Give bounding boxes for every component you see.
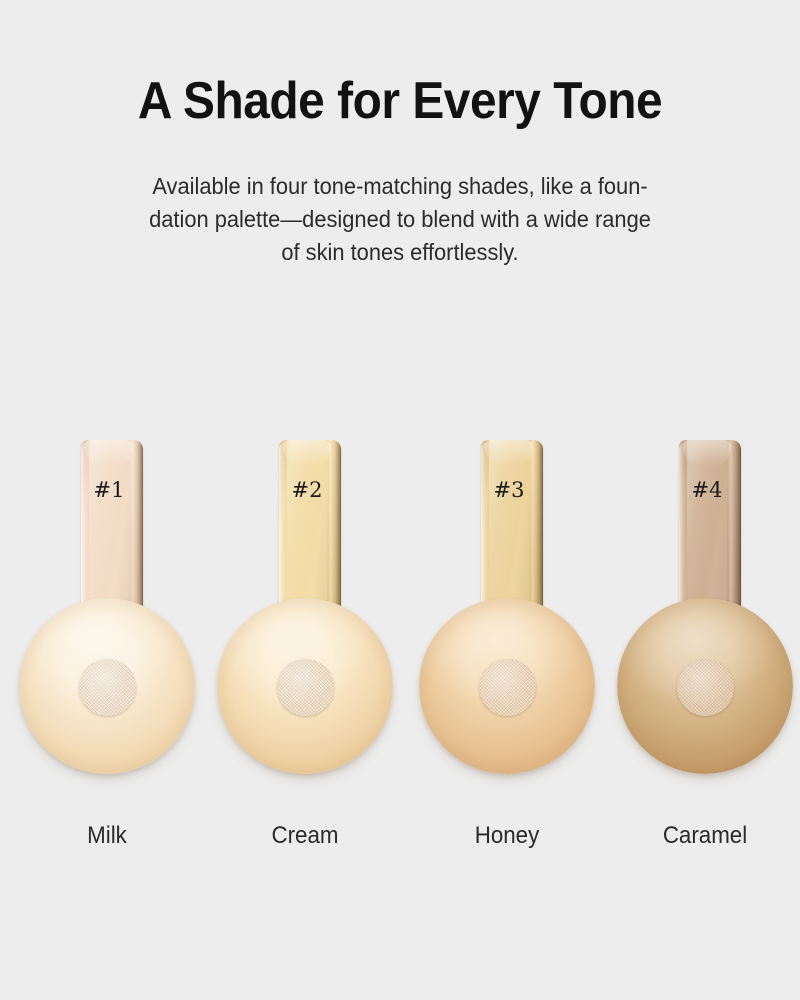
silicone-pad [419, 598, 595, 774]
tab-left-highlight [81, 442, 88, 610]
shade-comparison-page: A Shade for Every Tone Available in four… [0, 0, 800, 1000]
textured-center-disc [479, 659, 536, 716]
tab-right-bevel [328, 440, 341, 610]
shade-number-label: #1 [81, 478, 137, 502]
tab-top-gloss [283, 440, 331, 466]
product-tab: #4 [679, 440, 741, 610]
shade-swatch-milk[interactable]: #1 Milk [8, 430, 206, 860]
shade-swatch-row: #1 Milk #2 [0, 430, 800, 860]
subtitle-line-2: dation palette—designed to blend with a … [84, 203, 716, 236]
center-disc-shading [479, 659, 536, 716]
tab-top-gloss [85, 440, 133, 466]
tab-left-highlight [481, 442, 488, 610]
tab-left-highlight [679, 442, 686, 610]
silicone-pad [217, 598, 393, 774]
product-tab: #2 [279, 440, 341, 610]
silicone-pad [617, 598, 793, 774]
page-title: A Shade for Every Tone [32, 72, 768, 130]
shade-name-label: Milk [15, 822, 199, 850]
center-disc-shading [277, 659, 334, 716]
tab-top-gloss [683, 440, 731, 466]
shade-name-label: Caramel [613, 822, 797, 850]
product-tab: #1 [81, 440, 143, 610]
shade-number-label: #4 [679, 478, 735, 502]
shade-name-label: Honey [415, 822, 599, 850]
subtitle-line-1: Available in four tone-matching shades, … [84, 170, 716, 203]
shade-swatch-honey[interactable]: #3 Honey [408, 430, 606, 860]
shade-number-label: #3 [481, 478, 537, 502]
textured-center-disc [277, 659, 334, 716]
page-subtitle: Available in four tone-matching shades, … [84, 170, 716, 269]
shade-swatch-cream[interactable]: #2 Cream [206, 430, 404, 860]
silicone-pad [19, 598, 195, 774]
textured-center-disc [677, 659, 734, 716]
subtitle-line-3: of skin tones effortlessly. [84, 236, 716, 269]
shade-swatch-caramel[interactable]: #4 Caramel [606, 430, 800, 860]
tab-right-bevel [130, 440, 143, 610]
product-tab: #3 [481, 440, 543, 610]
tab-right-bevel [728, 440, 741, 610]
tab-right-bevel [530, 440, 543, 610]
tab-left-highlight [279, 442, 286, 610]
center-disc-shading [79, 659, 136, 716]
center-disc-shading [677, 659, 734, 716]
shade-name-label: Cream [213, 822, 397, 850]
tab-top-gloss [485, 440, 533, 466]
shade-number-label: #2 [279, 478, 335, 502]
textured-center-disc [79, 659, 136, 716]
